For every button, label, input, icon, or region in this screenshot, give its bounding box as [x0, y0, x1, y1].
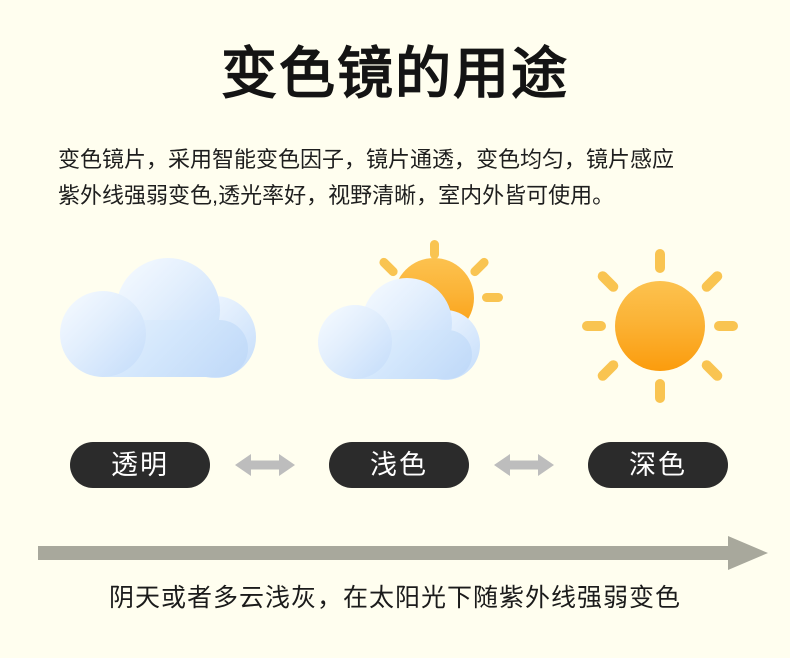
sun-ray-northeast — [700, 269, 725, 294]
state-badge-dark: 深色 — [588, 442, 728, 488]
progress-arrow-icon — [38, 536, 768, 570]
cloud-puff-left — [60, 291, 146, 377]
partly-cloudy-icon — [318, 278, 480, 376]
description-line-2: 紫外线强弱变色,透光率好，视野清晰，室内外皆可使用。 — [58, 178, 736, 214]
sun-ray-north — [655, 249, 665, 273]
sun-ray-west — [582, 321, 606, 331]
sun-icon — [580, 246, 740, 406]
state-3-icon-container — [562, 240, 747, 420]
sun-disc — [615, 281, 705, 371]
cloud-puff-left — [318, 305, 392, 379]
sun-ray-northwest — [378, 256, 400, 278]
sun-ray-northwest — [596, 269, 621, 294]
double-arrow-icon-1 — [235, 452, 295, 478]
sun-ray-north — [430, 240, 439, 259]
sun-ray-east — [714, 321, 738, 331]
state-badge-transparent: 透明 — [70, 442, 210, 488]
state-badge-light: 浅色 — [329, 442, 469, 488]
page-title: 变色镜的用途 — [0, 42, 790, 106]
state-1-icon-container — [44, 240, 274, 420]
weather-icon-row — [0, 240, 790, 420]
description-line-1: 变色镜片，采用智能变色因子，镜片通透，变色均匀，镜片感应 — [58, 142, 736, 178]
double-arrow-icon-2 — [494, 452, 554, 478]
state-2-icon-container — [318, 240, 503, 420]
sun-ray-south — [655, 379, 665, 403]
sun-ray-east — [482, 293, 503, 302]
bottom-caption: 阴天或者多云浅灰，在太阳光下随紫外线强弱变色 — [0, 580, 790, 616]
sun-ray-southwest — [596, 358, 621, 383]
description-paragraph: 变色镜片，采用智能变色因子，镜片通透，变色均匀，镜片感应 紫外线强弱变色,透光率… — [58, 142, 736, 214]
sun-ray-southeast — [700, 358, 725, 383]
cloudy-icon — [60, 258, 260, 373]
infographic-page: 变色镜的用途 变色镜片，采用智能变色因子，镜片通透，变色均匀，镜片感应 紫外线强… — [0, 0, 790, 658]
sun-ray-northeast — [469, 256, 491, 278]
